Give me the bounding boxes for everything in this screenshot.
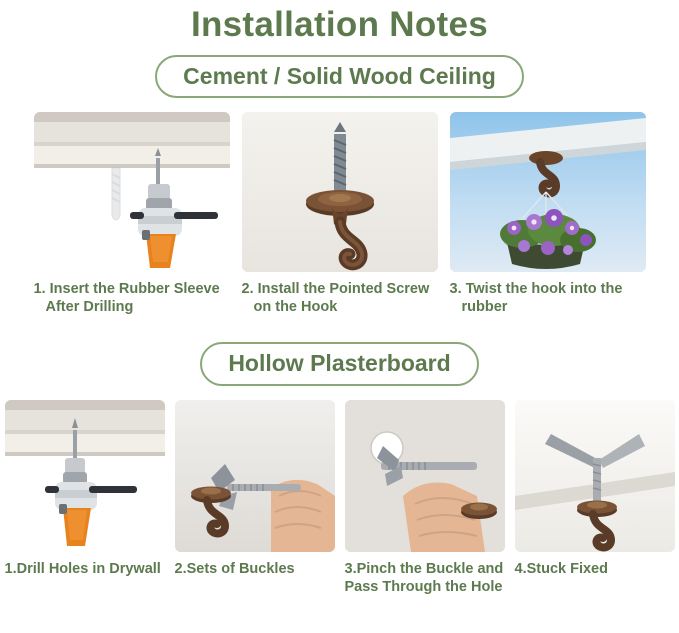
step-image-hook-with-pointed-screw bbox=[242, 112, 438, 272]
ceiling-hook-with-hanging-flower-basket-icon bbox=[450, 112, 646, 272]
section-heading-cement-solid-wood-ceiling: Cement / Solid Wood Ceiling bbox=[155, 55, 524, 99]
step-caption-2-4: 4.Stuck Fixed bbox=[515, 560, 675, 578]
pinch-toggle-through-hole-icon bbox=[345, 400, 505, 552]
hook-and-toggle-buckle-set-icon bbox=[175, 400, 335, 552]
section-heading-hollow-plasterboard: Hollow Plasterboard bbox=[200, 342, 478, 386]
step-card-2-3: 3.Pinch the Buckle and Pass Through the … bbox=[345, 400, 505, 596]
toggle-anchored-behind-board-icon bbox=[515, 400, 675, 552]
step-card-2-4: 4.Stuck Fixed bbox=[515, 400, 675, 596]
step-card-2-1: 1.Drill Holes in Drywall bbox=[5, 400, 165, 596]
page-title: Installation Notes bbox=[0, 6, 679, 45]
steps-grid-cement-solid-wood-ceiling: 1. Insert the Rubber Sleeve After Drilli… bbox=[0, 112, 679, 316]
step-caption-2-3: 3.Pinch the Buckle and Pass Through the … bbox=[345, 560, 505, 596]
step-card-2-2: 2.Sets of Buckles bbox=[175, 400, 335, 596]
step-card-1-3: 3. Twist the hook into the rubber bbox=[450, 112, 646, 316]
step-image-drill-with-rubber-sleeve bbox=[34, 112, 230, 272]
section-heading-wrapper-1: Cement / Solid Wood Ceiling bbox=[0, 55, 679, 99]
step-image-pinch-buckle-through-hole bbox=[345, 400, 505, 552]
section-2-wrapper: Hollow Plasterboard bbox=[0, 342, 679, 596]
step-image-drill-into-drywall bbox=[5, 400, 165, 552]
step-image-ceiling-hook-flower-basket bbox=[450, 112, 646, 272]
hook-with-pointed-screw-icon bbox=[242, 112, 438, 272]
drill-with-rubber-sleeve-icon bbox=[34, 112, 230, 272]
section-heading-wrapper-2: Hollow Plasterboard bbox=[0, 342, 679, 386]
step-caption-2-2: 2.Sets of Buckles bbox=[175, 560, 335, 578]
step-caption-1-3: 3. Twist the hook into the rubber bbox=[450, 280, 646, 316]
drill-into-drywall-icon bbox=[5, 400, 165, 552]
step-caption-2-1: 1.Drill Holes in Drywall bbox=[5, 560, 165, 578]
step-card-1-2: 2. Install the Pointed Screw on the Hook bbox=[242, 112, 438, 316]
steps-grid-hollow-plasterboard: 1.Drill Holes in Drywall bbox=[0, 400, 679, 596]
step-image-buckle-sets bbox=[175, 400, 335, 552]
step-image-toggle-anchored bbox=[515, 400, 675, 552]
step-caption-1-1: 1. Insert the Rubber Sleeve After Drilli… bbox=[34, 280, 230, 316]
step-caption-1-2: 2. Install the Pointed Screw on the Hook bbox=[242, 280, 438, 316]
step-card-1-1: 1. Insert the Rubber Sleeve After Drilli… bbox=[34, 112, 230, 316]
